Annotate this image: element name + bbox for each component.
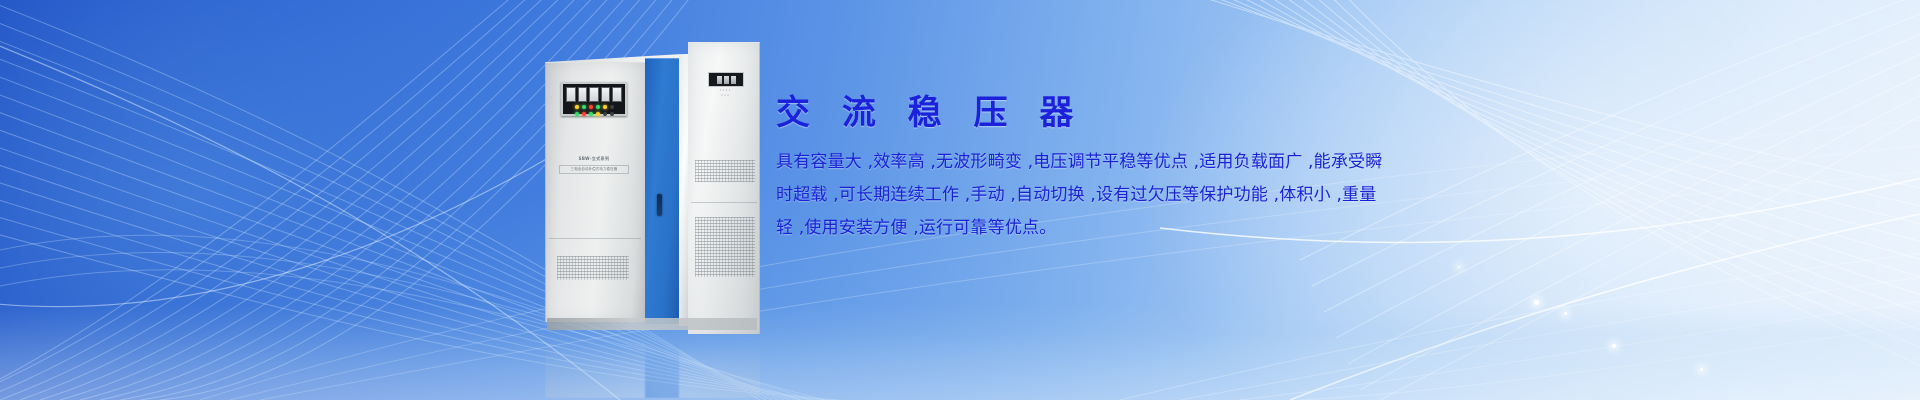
analog-meter [566, 87, 576, 102]
indicator-lamp [582, 105, 586, 109]
indicator-lamp [610, 105, 614, 109]
page-title: 交 流 稳 压 器 [776, 96, 1436, 130]
cabinet-blue-door [645, 58, 679, 324]
cabinet-base [547, 318, 757, 330]
indicator-lamp [575, 105, 579, 109]
description-line: 轻 ,使用安装方便 ,运行可靠等优点。 [776, 220, 1436, 237]
sparkle-dot [1458, 266, 1460, 268]
display-caption: ∙ ∙ ∙ ∙∙ ∙ ∙ [708, 88, 742, 98]
analog-meter [612, 87, 622, 102]
meter-row [566, 87, 622, 102]
indicator-lamp [582, 112, 586, 116]
product-sub-label: 三相全自动补偿式电力稳压器 [559, 165, 629, 174]
indicator-lamp [610, 112, 614, 116]
indicator-lamp-row [566, 112, 622, 116]
ventilation-grille [557, 256, 629, 280]
control-panel[interactable] [561, 82, 627, 116]
indicator-lamp-row [566, 105, 622, 109]
product-model-label: SBW-立式系列 [559, 156, 629, 162]
analog-meter [589, 87, 599, 102]
indicator-lamp [575, 112, 579, 116]
indicator-lamp [589, 105, 593, 109]
digital-display [708, 72, 744, 87]
indicator-lamp [603, 112, 607, 116]
cabinet-front-seam [549, 238, 641, 239]
display-digit [724, 76, 729, 84]
cabinet-side-seam [691, 202, 757, 203]
ventilation-grille [695, 160, 755, 182]
analog-meter [578, 87, 588, 102]
product-banner: SBW-立式系列 三相全自动补偿式电力稳压器 ∙ ∙ ∙ ∙∙ ∙ ∙ 交 流 … [0, 0, 1920, 400]
description-line: 时超载 ,可长期连续工作 ,手动 ,自动切换 ,设有过欠压等保护功能 ,体积小 … [776, 187, 1436, 204]
display-digit [717, 76, 722, 84]
cabinet-seam [679, 56, 688, 326]
display-digit [731, 76, 736, 84]
product-image-voltage-stabilizer: SBW-立式系列 三相全自动补偿式电力稳压器 ∙ ∙ ∙ ∙∙ ∙ ∙ [545, 42, 760, 342]
analog-meter [601, 87, 611, 102]
indicator-lamp [596, 112, 600, 116]
indicator-lamp [596, 105, 600, 109]
cabinet-door-handle[interactable] [657, 194, 662, 216]
banner-copy: 交 流 稳 压 器 具有容量大 ,效率高 ,无波形畸变 ,电压调节平稳等优点 ,… [776, 96, 1436, 237]
floor-reflection-band [0, 304, 1920, 400]
description-line: 具有容量大 ,效率高 ,无波形畸变 ,电压调节平稳等优点 ,适用负载面广 ,能承… [776, 154, 1436, 171]
ventilation-grille [695, 217, 755, 277]
indicator-lamp [589, 112, 593, 116]
indicator-lamp [603, 105, 607, 109]
product-nameplate: SBW-立式系列 三相全自动补偿式电力稳压器 [559, 156, 629, 174]
